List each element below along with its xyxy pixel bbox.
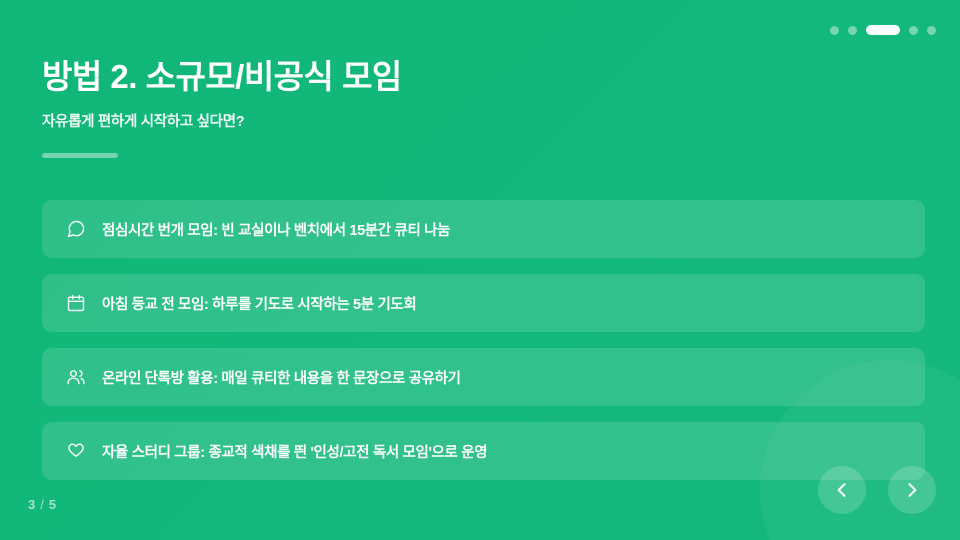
- list-item-label: 아침 등교 전 모임: 하루를 기도로 시작하는 5분 기도회: [102, 293, 416, 314]
- progress-dot-5[interactable]: [927, 26, 936, 35]
- users-icon: [58, 359, 94, 395]
- total-page-number: 5: [49, 497, 57, 512]
- chevron-right-icon: [902, 480, 922, 500]
- current-page-number: 3: [28, 497, 36, 512]
- list-item[interactable]: 점심시간 번개 모임: 빈 교실이나 벤치에서 15분간 큐티 나눔: [42, 200, 925, 258]
- progress-dot-2[interactable]: [848, 26, 857, 35]
- calendar-icon: [58, 285, 94, 321]
- page-subtitle: 자유롭게 편하게 시작하고 싶다면?: [42, 110, 402, 131]
- page-title: 방법 2. 소규모/비공식 모임: [42, 58, 402, 97]
- content-list: 점심시간 번개 모임: 빈 교실이나 벤치에서 15분간 큐티 나눔 아침 등교…: [42, 200, 925, 480]
- list-item-label: 점심시간 번개 모임: 빈 교실이나 벤치에서 15분간 큐티 나눔: [102, 219, 450, 240]
- accent-underline: [42, 153, 118, 158]
- progress-dot-1[interactable]: [830, 26, 839, 35]
- slide-header: 방법 2. 소규모/비공식 모임 자유롭게 편하게 시작하고 싶다면?: [42, 58, 402, 158]
- heart-icon: [58, 433, 94, 469]
- slide-root: 방법 2. 소규모/비공식 모임 자유롭게 편하게 시작하고 싶다면? 점심시간…: [0, 0, 960, 540]
- list-item[interactable]: 자율 스터디 그룹: 종교적 색채를 띈 '인성/고전 독서 모임'으로 운영: [42, 422, 925, 480]
- page-counter: 3/5: [28, 497, 57, 512]
- list-item-label: 자율 스터디 그룹: 종교적 색채를 띈 '인성/고전 독서 모임'으로 운영: [102, 441, 487, 462]
- chevron-left-icon: [832, 480, 852, 500]
- slide-navigation: [818, 466, 936, 514]
- progress-dots: [830, 25, 936, 35]
- prev-slide-button[interactable]: [818, 466, 866, 514]
- list-item[interactable]: 온라인 단톡방 활용: 매일 큐티한 내용을 한 문장으로 공유하기: [42, 348, 925, 406]
- progress-dot-4[interactable]: [909, 26, 918, 35]
- page-separator: /: [40, 497, 45, 512]
- next-slide-button[interactable]: [888, 466, 936, 514]
- list-item-label: 온라인 단톡방 활용: 매일 큐티한 내용을 한 문장으로 공유하기: [102, 367, 461, 388]
- progress-dot-3-active[interactable]: [866, 25, 900, 35]
- list-item[interactable]: 아침 등교 전 모임: 하루를 기도로 시작하는 5분 기도회: [42, 274, 925, 332]
- chat-bubble-icon: [58, 211, 94, 247]
